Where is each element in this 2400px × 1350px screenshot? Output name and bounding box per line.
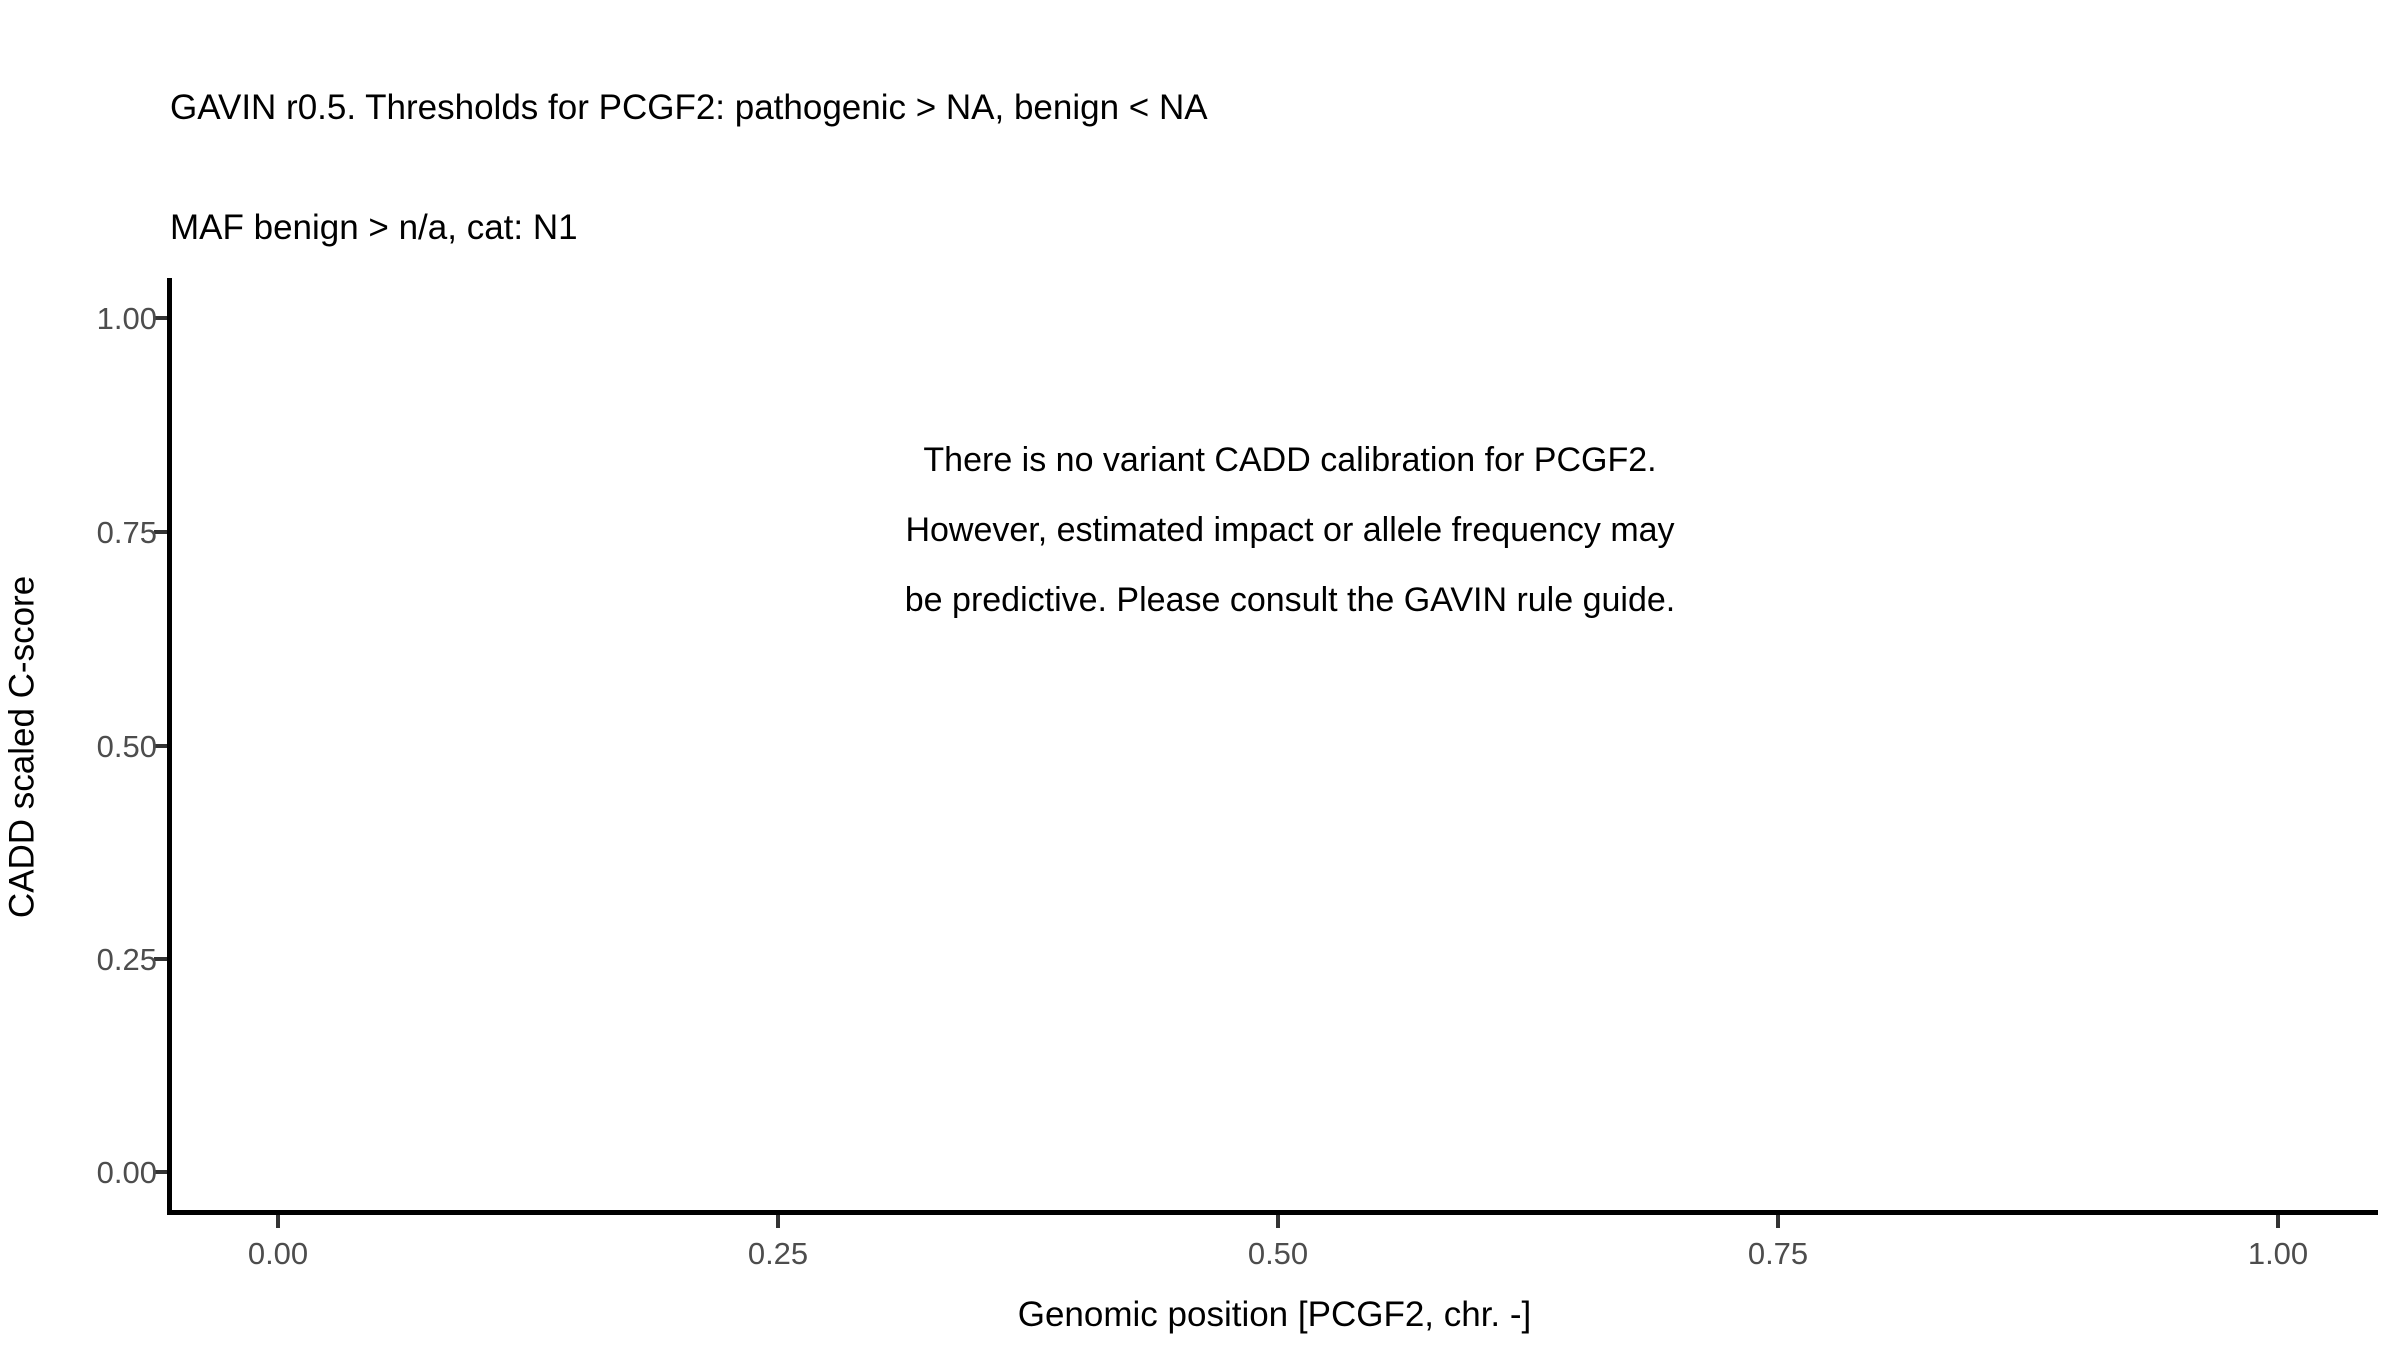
x-tick-label-0-75: 0.75	[1668, 1238, 1888, 1269]
x-tick-mark-0-25	[776, 1215, 780, 1228]
x-axis-title: Genomic position [PCGF2, chr. -]	[171, 1296, 2378, 1334]
x-tick-label-0-50: 0.50	[1168, 1238, 1388, 1269]
x-tick-label-0-25: 0.25	[668, 1238, 888, 1269]
x-tick-label-0-00: 0.00	[168, 1238, 388, 1269]
y-axis-line	[167, 278, 172, 1215]
plot-root: GAVIN r0.5. Thresholds for PCGF2: pathog…	[0, 0, 2400, 1350]
no-calibration-message-line-2: However, estimated impact or allele freq…	[470, 495, 2110, 565]
plot-panel	[171, 278, 2378, 1213]
no-calibration-message: There is no variant CADD calibration for…	[470, 425, 2110, 635]
x-tick-label-1-00: 1.00	[2168, 1238, 2388, 1269]
no-calibration-message-line-1: There is no variant CADD calibration for…	[470, 425, 2110, 495]
plot-title-line-2: MAF benign > n/a, cat: N1	[170, 208, 2230, 248]
plot-title-line-1: GAVIN r0.5. Thresholds for PCGF2: pathog…	[170, 88, 2230, 128]
x-tick-mark-0-50	[1276, 1215, 1280, 1228]
x-axis-line	[167, 1210, 2378, 1215]
x-tick-mark-1-00	[2276, 1215, 2280, 1228]
no-calibration-message-line-3: be predictive. Please consult the GAVIN …	[470, 565, 2110, 635]
x-tick-mark-0-00	[276, 1215, 280, 1228]
y-axis-title: CADD scaled C-score	[4, 280, 42, 1215]
x-tick-mark-0-75	[1776, 1215, 1780, 1228]
